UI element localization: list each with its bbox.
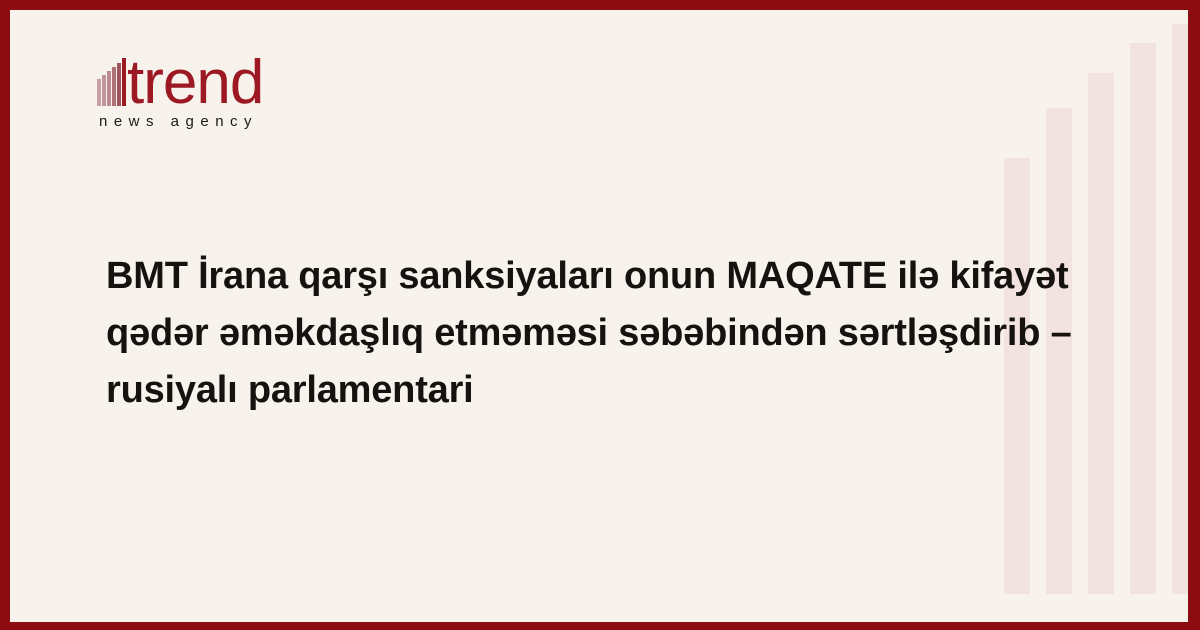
watermark-bar [1172,10,1188,594]
brand-logo[interactable]: trend news agency [97,44,357,130]
trend-rising-bars-icon [97,58,129,106]
logo-lockup: trend [97,44,357,106]
logo-wordmark: trend [127,52,263,114]
card-canvas: trend news agency BMT İrana qarşı sanksi… [10,10,1188,622]
share-card: trend news agency BMT İrana qarşı sanksi… [0,0,1200,630]
watermark-bar [1130,29,1156,594]
headline-text: BMT İrana qarşı sanksiyaları onun MAQATE… [106,248,1106,419]
